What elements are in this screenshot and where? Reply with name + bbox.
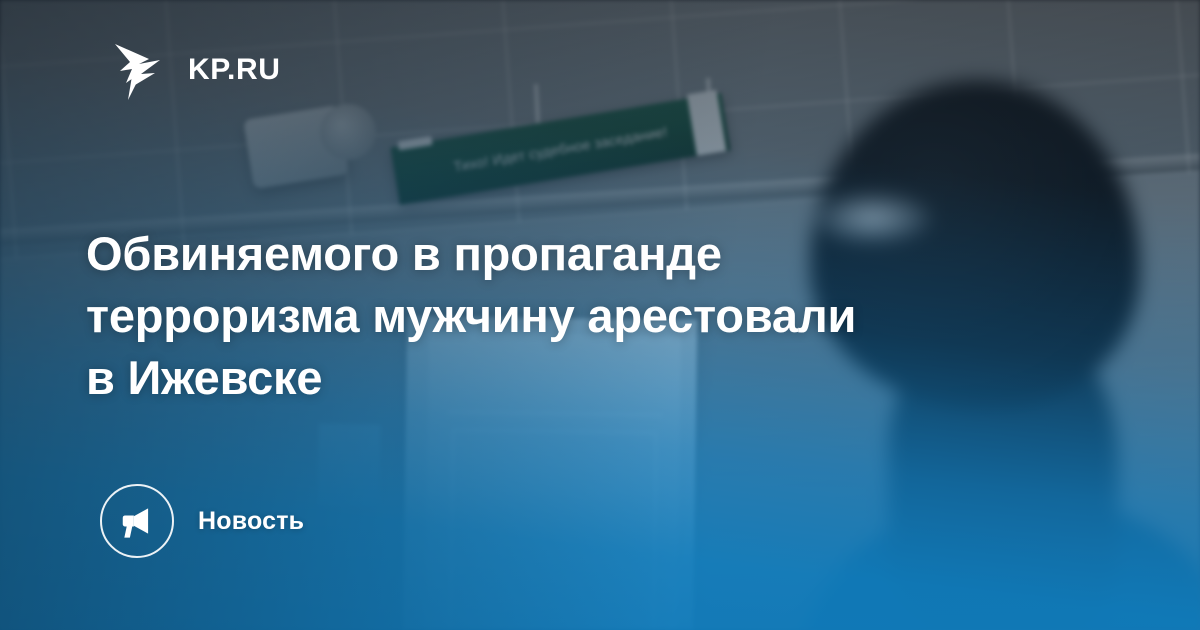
headline-line-3: в Ижевске (86, 347, 1076, 409)
badge-label-text: Новость (198, 507, 304, 536)
brand-logo[interactable]: KP.RU (108, 38, 280, 102)
status-badge[interactable]: Новость (100, 484, 304, 558)
page-title: Обвиняемого в пропаганде терроризма мужч… (86, 223, 1076, 409)
card-content: KP.RU Обвиняемого в пропаганде терроризм… (0, 0, 1200, 630)
brand-name-text: KP.RU (188, 55, 280, 85)
badge-icon-circle (100, 484, 174, 558)
megaphone-icon (118, 502, 156, 540)
headline-line-1: Обвиняемого в пропаганде (86, 223, 1076, 285)
headline-line-2: терроризма мужчину арестовали (86, 285, 1076, 347)
swallow-bird-icon (108, 38, 172, 102)
news-social-card: Тихо! Идет судебное заседание! KP.RU (0, 0, 1200, 630)
